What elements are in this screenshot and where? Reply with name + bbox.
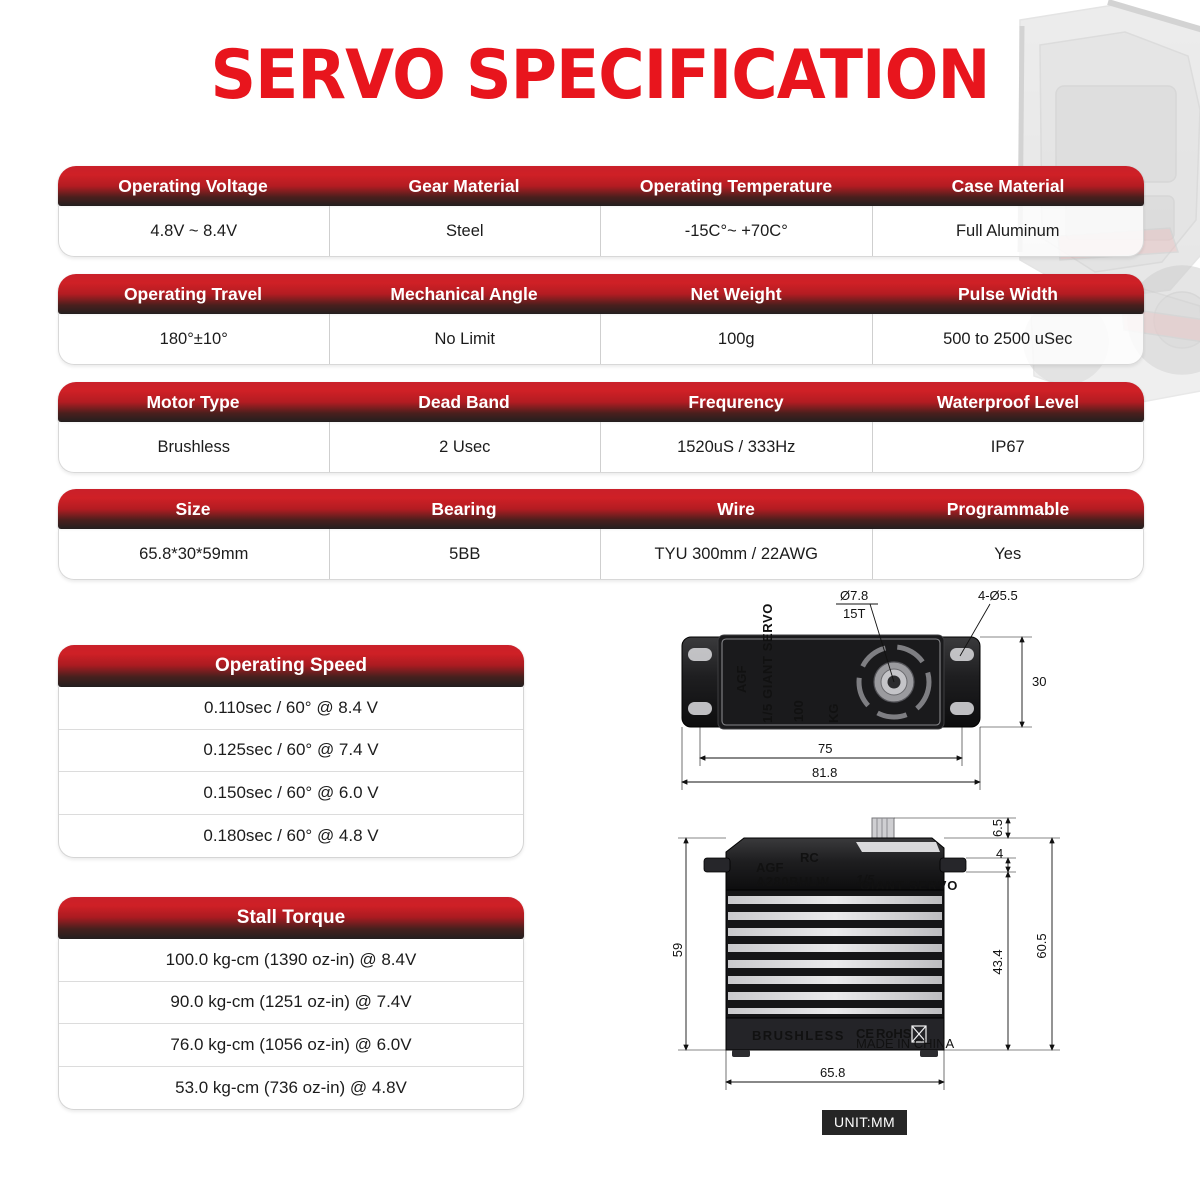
top-view-torque: 100 — [791, 700, 806, 722]
side-view-model: A280BHLW — [756, 874, 830, 889]
spec-value-cell: Brushless — [59, 422, 329, 472]
spec-value-cell: Yes — [872, 529, 1144, 579]
dim-top-height: 30 — [1032, 674, 1046, 689]
side-view-brand: AGF — [756, 860, 784, 875]
spec-header-cell: Mechanical Angle — [328, 284, 600, 305]
table-row: 0.150sec / 60° @ 6.0 V — [59, 772, 523, 815]
technical-drawings: AGF 1/5 GIANT SERVO 100 KG Ø7.8 15T 4-Ø5… — [660, 590, 1080, 1150]
side-view-motor-label: BRUSHLESS — [752, 1028, 845, 1043]
spec-value-cell: No Limit — [329, 314, 601, 364]
dim-spline-count: 15T — [843, 606, 865, 621]
spec-header-3: Motor Type Dead Band Frequrency Waterpro… — [58, 382, 1144, 422]
dim-mount-holes: 4-Ø5.5 — [978, 590, 1018, 603]
spec-header-cell: Operating Temperature — [600, 176, 872, 197]
spec-values-4: 65.8*30*59mm 5BB TYU 300mm / 22AWG Yes — [58, 529, 1144, 580]
dim-lug-thickness: 4 — [996, 846, 1003, 861]
spec-value-cell: 2 Usec — [329, 422, 601, 472]
spec-table-row-4: Size Bearing Wire Programmable 65.8*30*5… — [58, 489, 1144, 580]
spec-value-cell: 65.8*30*59mm — [59, 529, 329, 579]
dim-horn-height: 6.5 — [990, 819, 1005, 837]
stall-torque-rows: 100.0 kg-cm (1390 oz-in) @ 8.4V 90.0 kg-… — [58, 939, 524, 1110]
dim-side-width: 65.8 — [820, 1065, 845, 1080]
spec-header-cell: Net Weight — [600, 284, 872, 305]
operating-speed-table: Operating Speed 0.110sec / 60° @ 8.4 V 0… — [58, 645, 524, 858]
spec-header-cell: Pulse Width — [872, 284, 1144, 305]
spec-values-1: 4.8V ~ 8.4V Steel -15C°~ +70C° Full Alum… — [58, 206, 1144, 257]
spec-value-cell: 180°±10° — [59, 314, 329, 364]
servo-side-view: AGF RC A280BHLW 1/5 GIANT SERVO BRUSHLES… — [670, 818, 1060, 1090]
operating-speed-title: Operating Speed — [58, 645, 524, 687]
servo-top-view: AGF 1/5 GIANT SERVO 100 KG Ø7.8 15T 4-Ø5… — [682, 590, 1046, 790]
spec-value-cell: 5BB — [329, 529, 601, 579]
origin-label: MADE IN CHINA — [856, 1036, 955, 1051]
spec-table-row-2: Operating Travel Mechanical Angle Net We… — [58, 274, 1144, 365]
spec-header-1: Operating Voltage Gear Material Operatin… — [58, 166, 1144, 206]
side-view-brand-sup: RC — [800, 850, 819, 865]
table-row: 100.0 kg-cm (1390 oz-in) @ 8.4V — [59, 939, 523, 982]
spec-header-cell: Size — [58, 499, 328, 520]
operating-speed-rows: 0.110sec / 60° @ 8.4 V 0.125sec / 60° @ … — [58, 687, 524, 858]
spec-header-cell: Waterproof Level — [872, 392, 1144, 413]
spec-header-cell: Programmable — [872, 499, 1144, 520]
spec-value-cell: TYU 300mm / 22AWG — [600, 529, 872, 579]
spec-value-cell: 500 to 2500 uSec — [872, 314, 1144, 364]
spec-value-cell: 4.8V ~ 8.4V — [59, 206, 329, 256]
spec-value-cell: IP67 — [872, 422, 1144, 472]
spec-table-row-3: Motor Type Dead Band Frequrency Waterpro… — [58, 382, 1144, 473]
top-view-torque-unit: KG — [826, 704, 841, 724]
unit-badge: UNIT:MM — [822, 1110, 907, 1135]
table-row: 90.0 kg-cm (1251 oz-in) @ 7.4V — [59, 982, 523, 1025]
spec-header-cell: Dead Band — [328, 392, 600, 413]
page-title: SERVO SPECIFICATION — [42, 36, 1158, 115]
dim-overall-width: 81.8 — [812, 765, 837, 780]
dim-shaft-diameter: Ø7.8 — [840, 590, 868, 603]
table-row: 76.0 kg-cm (1056 oz-in) @ 6.0V — [59, 1024, 523, 1067]
spec-value-cell: Full Aluminum — [872, 206, 1144, 256]
dim-total-height: 60.5 — [1034, 933, 1049, 958]
stall-torque-table: Stall Torque 100.0 kg-cm (1390 oz-in) @ … — [58, 897, 524, 1110]
spec-header-cell: Bearing — [328, 499, 600, 520]
stall-torque-title: Stall Torque — [58, 897, 524, 939]
spec-header-cell: Gear Material — [328, 176, 600, 197]
spec-header-cell: Operating Voltage — [58, 176, 328, 197]
spec-table-row-1: Operating Voltage Gear Material Operatin… — [58, 166, 1144, 257]
spec-value-cell: 100g — [600, 314, 872, 364]
top-view-brand: AGF — [734, 666, 749, 694]
spec-header-2: Operating Travel Mechanical Angle Net We… — [58, 274, 1144, 314]
spec-header-4: Size Bearing Wire Programmable — [58, 489, 1144, 529]
top-view-scale-text: 1/5 GIANT SERVO — [760, 603, 775, 723]
spec-header-cell: Case Material — [872, 176, 1144, 197]
spec-value-cell: 1520uS / 333Hz — [600, 422, 872, 472]
table-row: 0.125sec / 60° @ 7.4 V — [59, 730, 523, 773]
spec-value-cell: Steel — [329, 206, 601, 256]
spec-header-cell: Operating Travel — [58, 284, 328, 305]
table-row: 0.110sec / 60° @ 8.4 V — [59, 687, 523, 730]
dim-body-height: 59 — [670, 943, 685, 957]
table-row: 53.0 kg-cm (736 oz-in) @ 4.8V — [59, 1067, 523, 1110]
spec-header-cell: Motor Type — [58, 392, 328, 413]
spec-header-cell: Wire — [600, 499, 872, 520]
spec-header-cell: Frequrency — [600, 392, 872, 413]
spec-values-2: 180°±10° No Limit 100g 500 to 2500 uSec — [58, 314, 1144, 365]
spec-values-3: Brushless 2 Usec 1520uS / 333Hz IP67 — [58, 422, 1144, 473]
table-row: 0.180sec / 60° @ 4.8 V — [59, 815, 523, 858]
dim-case-height: 43.4 — [990, 949, 1005, 974]
dim-mount-span: 75 — [818, 741, 832, 756]
spec-value-cell: -15C°~ +70C° — [600, 206, 872, 256]
